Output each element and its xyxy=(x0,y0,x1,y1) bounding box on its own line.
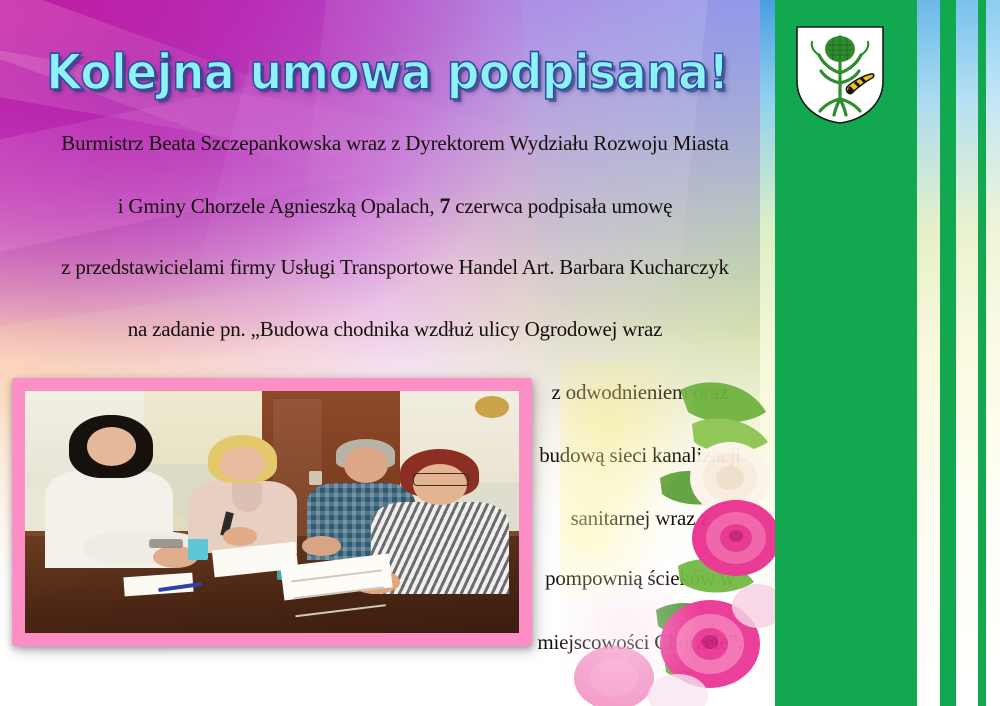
photo-person-2-hand xyxy=(223,527,258,546)
body-line-5: z odwodnieniem oraz xyxy=(505,380,775,405)
body-line-2: i Gminy Chorzele Agnieszką Opalach, 7 cz… xyxy=(0,193,790,219)
stripe-gap xyxy=(917,0,940,706)
body-line-7: sanitarnej wraz z xyxy=(505,506,775,531)
body-line-4: na zadanie pn. „Budowa chodnika wzdłuż u… xyxy=(0,317,790,342)
body-line-3: z przedstawicielami firmy Usługi Transpo… xyxy=(0,255,790,280)
photo-clock xyxy=(475,396,510,418)
body-line-8: pompownią ścieków w xyxy=(505,566,775,591)
stripe-gap xyxy=(956,0,978,706)
photo-image xyxy=(25,391,519,633)
photo-person-4-glasses xyxy=(413,473,469,486)
body-line-2b: czerwca podpisała umowę xyxy=(450,194,672,218)
photo-door-handle xyxy=(309,471,322,486)
body-line-9: miejscowości Chorzele”. xyxy=(505,630,775,655)
body-line-1: Burmistrz Beata Szczepankowska wraz z Dy… xyxy=(0,131,790,156)
photo-bottle-1 xyxy=(188,539,208,561)
photo-person-3-face xyxy=(344,447,388,483)
green-band-third xyxy=(978,0,986,706)
photo-person-1-face xyxy=(87,427,136,466)
coat-of-arms-icon xyxy=(795,25,885,125)
green-band-second xyxy=(940,0,956,706)
photo-person-3-hand xyxy=(302,536,342,555)
date-day-number: 7 xyxy=(439,193,450,218)
body-line-6: budową sieci kanalizacji xyxy=(505,443,775,468)
poster-canvas: Kolejna umowa podpisana! Burmistrz Beata… xyxy=(0,0,1000,706)
stripe-gap xyxy=(986,0,1000,706)
photo-eyeglasses-on-table xyxy=(149,539,184,549)
photo-person-2-face xyxy=(220,447,264,481)
body-line-2a: i Gminy Chorzele Agnieszką Opalach, xyxy=(118,194,440,218)
photo-person-2-neckline xyxy=(232,483,262,512)
photo-frame xyxy=(12,378,532,646)
